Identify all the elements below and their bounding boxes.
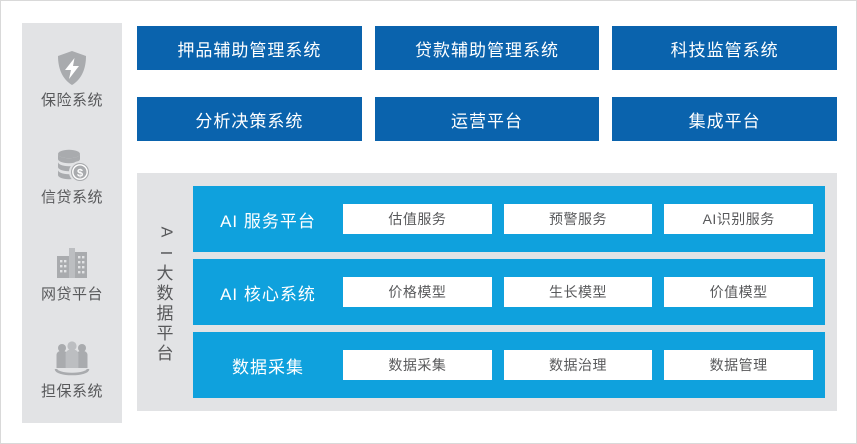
architecture-diagram: 保险系统 $ 信贷系统 (0, 0, 857, 444)
platform-row-items: 价格模型 生长模型 价值模型 (343, 277, 813, 307)
sidebar-item-label: 信贷系统 (41, 190, 103, 205)
system-bar[interactable]: 运营平台 (375, 97, 600, 141)
platform-row-ai-service[interactable]: AI 服务平台 估值服务 预警服务 AI识别服务 (193, 186, 825, 252)
platform-chip[interactable]: 估值服务 (343, 204, 492, 234)
platform-vertical-label-char: I (157, 250, 173, 254)
platform-row-title: AI 核心系统 (193, 280, 343, 305)
platform-vertical-label-char: 平 (157, 325, 174, 342)
platform-row-ai-core[interactable]: AI 核心系统 价格模型 生长模型 价值模型 (193, 259, 825, 325)
sidebar-item-guarantee[interactable]: 担保系统 (22, 339, 122, 399)
platform-row-data-collection[interactable]: 数据采集 数据采集 数据治理 数据管理 (193, 332, 825, 398)
sidebar-item-label: 保险系统 (41, 93, 103, 108)
platform-vertical-label-char: 台 (157, 345, 174, 362)
platform-chip[interactable]: 预警服务 (504, 204, 653, 234)
top-systems: 押品辅助管理系统 贷款辅助管理系统 科技监管系统 分析决策系统 运营平台 集成平… (137, 26, 837, 141)
platform-chip[interactable]: 数据治理 (504, 350, 653, 380)
platform-row-title: 数据采集 (193, 353, 343, 378)
platform-rows: AI 服务平台 估值服务 预警服务 AI识别服务 AI 核心系统 价格模型 生长… (193, 186, 825, 398)
platform-vertical-label-char: 大 (157, 265, 174, 282)
platform-chip[interactable]: AI识别服务 (664, 204, 813, 234)
system-bar[interactable]: 贷款辅助管理系统 (375, 26, 600, 70)
sidebar-item-online-lending[interactable]: 网贷平台 (22, 242, 122, 302)
buildings-icon (52, 242, 92, 282)
system-bar[interactable]: 集成平台 (612, 97, 837, 141)
platform-vertical-label: A I 大 数 据 平 台 (137, 186, 193, 398)
platform-vertical-label-char: 数 (157, 285, 174, 302)
platform-row-items: 数据采集 数据治理 数据管理 (343, 350, 813, 380)
platform-chip[interactable]: 价格模型 (343, 277, 492, 307)
ai-bigdata-platform-panel: A I 大 数 据 平 台 AI 服务平台 估值服务 预警服务 AI识别服务 A… (137, 173, 837, 411)
system-bar[interactable]: 科技监管系统 (612, 26, 837, 70)
platform-row-items: 估值服务 预警服务 AI识别服务 (343, 204, 813, 234)
sidebar-item-label: 担保系统 (41, 384, 103, 399)
people-group-icon (52, 339, 92, 379)
system-bar[interactable]: 押品辅助管理系统 (137, 26, 362, 70)
system-bar[interactable]: 分析决策系统 (137, 97, 362, 141)
platform-chip[interactable]: 价值模型 (664, 277, 813, 307)
platform-chip[interactable]: 生长模型 (504, 277, 653, 307)
platform-chip[interactable]: 数据采集 (343, 350, 492, 380)
sidebar-item-insurance[interactable]: 保险系统 (22, 48, 122, 108)
platform-vertical-label-char: A (157, 226, 173, 237)
coins-dollar-icon: $ (52, 145, 92, 185)
platform-vertical-label-char: 据 (157, 305, 174, 322)
top-systems-row-1: 押品辅助管理系统 贷款辅助管理系统 科技监管系统 (137, 26, 837, 70)
sidebar: 保险系统 $ 信贷系统 (22, 23, 122, 423)
svg-text:$: $ (77, 167, 83, 179)
sidebar-item-credit[interactable]: $ 信贷系统 (22, 145, 122, 205)
shield-bolt-icon (52, 48, 92, 88)
sidebar-item-label: 网贷平台 (41, 287, 103, 302)
top-systems-row-2: 分析决策系统 运营平台 集成平台 (137, 97, 837, 141)
platform-row-title: AI 服务平台 (193, 207, 343, 232)
platform-chip[interactable]: 数据管理 (664, 350, 813, 380)
